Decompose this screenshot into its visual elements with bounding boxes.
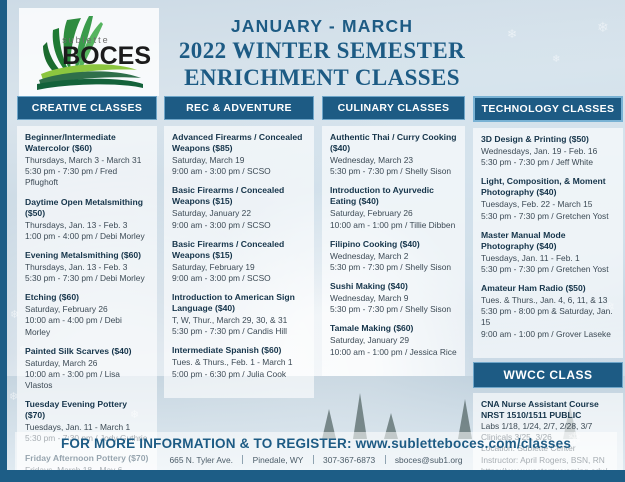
- class-time-instructor: 5:30 pm - 7:30 pm / Candis Hill: [172, 326, 306, 337]
- footer-contact-line: 665 N. Tyler Ave. Pinedale, WY 307-367-6…: [7, 455, 625, 465]
- class-dates: Saturday, January 22: [172, 208, 306, 219]
- class-panel-culinary: Authentic Thai / Curry Cooking ($40) Wed…: [322, 126, 465, 376]
- poster-header: sublette BOCES JANUARY - MARCH 2022 WINT…: [7, 0, 625, 96]
- class-dates: Saturday, February 26: [25, 304, 149, 315]
- class-time-instructor: 5:30 pm - 7:30 pm / Fred Pflughoft: [25, 166, 149, 188]
- class-time-instructor: 5:00 pm - 6:30 pm / Julia Cook: [172, 369, 306, 380]
- class-item[interactable]: Sushi Making ($40) Wednesday, March 9 5:…: [328, 281, 459, 315]
- class-time-instructor: 9:00 am - 1:00 pm / Grover Laseke: [481, 329, 615, 340]
- class-item[interactable]: Painted Silk Scarves ($40) Saturday, Mar…: [23, 346, 151, 392]
- category-header-culinary[interactable]: CULINARY CLASSES: [322, 96, 465, 120]
- category-header-rec-adventure[interactable]: REC & ADVENTURE: [164, 96, 314, 120]
- class-item[interactable]: Evening Metalsmithing ($60) Thursdays, J…: [23, 250, 151, 284]
- category-header-technology[interactable]: TECHNOLOGY CLASSES: [473, 96, 623, 122]
- class-dates: Tuesdays, Feb. 22 - March 15: [481, 199, 615, 210]
- class-panel-technology: 3D Design & Printing ($50) Wednesdays, J…: [473, 128, 623, 358]
- class-time-instructor: 9:00 am - 3:00 pm / SCSO: [172, 166, 306, 177]
- class-columns: CREATIVE CLASSES Beginner/Intermediate W…: [7, 96, 625, 434]
- class-name: Advanced Firearms / Concealed Weapons ($…: [172, 132, 306, 154]
- class-dates: Saturday, January 29: [330, 335, 457, 346]
- class-time-instructor: 5:30 pm - 7:30 pm / Gretchen Yost: [481, 211, 615, 222]
- class-time-instructor: 10:00 am - 4:00 pm / Debi Morley: [25, 315, 149, 337]
- title-line-3: ENRICHMENT CLASSES: [167, 64, 477, 91]
- class-name: Introduction to American Sign Language (…: [172, 292, 306, 314]
- class-item[interactable]: Filipino Cooking ($40) Wednesday, March …: [328, 239, 459, 273]
- class-dates: Saturday, March 26: [25, 358, 149, 369]
- class-name: Intermediate Spanish ($60): [172, 345, 306, 356]
- class-time-instructor: 10:00 am - 1:00 pm / Jessica Rice: [330, 347, 457, 358]
- class-name: Filipino Cooking ($40): [330, 239, 457, 250]
- title-date-range: JANUARY - MARCH: [167, 16, 477, 37]
- class-panel-rec-adventure: Advanced Firearms / Concealed Weapons ($…: [164, 126, 314, 398]
- class-time-instructor: 10:00 am - 3:00 pm / Lisa Vlastos: [25, 369, 149, 391]
- class-item[interactable]: Light, Composition, & Moment Photography…: [479, 176, 617, 221]
- footer-email[interactable]: sboces@sub1.org: [388, 455, 470, 465]
- class-name: Evening Metalsmithing ($60): [25, 250, 149, 261]
- class-name: Authentic Thai / Curry Cooking ($40): [330, 132, 457, 154]
- class-name: Tuesday Evening Pottery ($70): [25, 399, 149, 421]
- poster-footer: FOR MORE INFORMATION & TO REGISTER: www.…: [7, 432, 625, 482]
- class-time-instructor: 10:00 am - 1:00 pm / Tillie Dibben: [330, 220, 457, 231]
- column-creative-classes: CREATIVE CLASSES Beginner/Intermediate W…: [17, 96, 157, 482]
- class-name: Tamale Making ($60): [330, 323, 457, 334]
- column-technology-classes: TECHNOLOGY CLASSES 3D Design & Printing …: [473, 96, 623, 482]
- class-name: Daytime Open Metalsmithing ($50): [25, 197, 149, 219]
- class-item[interactable]: Introduction to American Sign Language (…: [170, 292, 308, 337]
- class-dates: Saturday, March 19: [172, 155, 306, 166]
- divider: [313, 455, 314, 464]
- logo-wordmark: BOCES: [62, 45, 151, 69]
- class-dates: Thursdays, Jan. 13 - Feb. 3: [25, 262, 149, 273]
- footer-register-line[interactable]: FOR MORE INFORMATION & TO REGISTER: www.…: [7, 436, 625, 451]
- class-time-extra: 5:30 pm - 8:00 pm & Saturday, Jan. 15: [481, 306, 615, 328]
- class-name: Basic Firearms / Concealed Weapons ($15): [172, 239, 306, 261]
- class-item[interactable]: Introduction to Ayurvedic Eating ($40) S…: [328, 185, 459, 230]
- class-item[interactable]: Authentic Thai / Curry Cooking ($40) Wed…: [328, 132, 459, 177]
- footer-color-band: [7, 470, 625, 482]
- class-time-instructor: 5:30 pm - 7:30 pm / Jeff White: [481, 157, 615, 168]
- class-dates: Thursdays, March 3 - March 31: [25, 155, 149, 166]
- class-code: NRST 1510/1511 PUBLIC: [481, 410, 615, 421]
- column-culinary-classes: CULINARY CLASSES Authentic Thai / Curry …: [322, 96, 465, 376]
- class-name: Etching ($60): [25, 292, 149, 303]
- divider: [242, 455, 243, 464]
- class-dates: Saturday, February 19: [172, 262, 306, 273]
- class-item[interactable]: Intermediate Spanish ($60) Tues. & Thurs…: [170, 345, 308, 379]
- class-dates: Tues. & Thurs., Feb. 1 - March 1: [172, 357, 306, 368]
- class-time-instructor: 5:30 pm - 7:30 pm / Debi Morley: [25, 273, 149, 284]
- class-time-instructor: 9:00 am - 3:00 pm / SCSO: [172, 273, 306, 284]
- class-dates: Thursdays, Jan. 13 - Feb. 3: [25, 220, 149, 231]
- title-line-2: 2022 WINTER SEMESTER: [167, 37, 477, 64]
- class-labs: Labs 1/18, 1/24, 2/7, 2/28, 3/7: [481, 421, 615, 432]
- poster-title: JANUARY - MARCH 2022 WINTER SEMESTER ENR…: [167, 16, 477, 91]
- class-time-instructor: 5:30 pm - 7:30 pm / Shelly Sison: [330, 262, 457, 273]
- class-dates: Wednesday, March 23: [330, 155, 457, 166]
- class-dates: Wednesday, March 2: [330, 251, 457, 262]
- footer-address: 665 N. Tyler Ave.: [163, 455, 240, 465]
- divider: [385, 455, 386, 464]
- class-dates: Saturday, February 26: [330, 208, 457, 219]
- class-time-instructor: 5:30 pm - 7:30 pm / Shelly Sison: [330, 166, 457, 177]
- class-item[interactable]: Daytime Open Metalsmithing ($50) Thursda…: [23, 197, 151, 242]
- class-panel-creative: Beginner/Intermediate Watercolor ($60) T…: [17, 126, 157, 482]
- logo-container: sublette BOCES: [19, 8, 159, 96]
- class-item[interactable]: Amateur Ham Radio ($50) Tues. & Thurs., …: [479, 283, 617, 340]
- class-name: CNA Nurse Assistant Course: [481, 399, 615, 410]
- class-name: Light, Composition, & Moment Photography…: [481, 176, 615, 198]
- class-time-instructor: 5:30 pm - 7:30 pm / Gretchen Yost: [481, 264, 615, 275]
- class-item[interactable]: Tamale Making ($60) Saturday, January 29…: [328, 323, 459, 357]
- class-dates: T, W, Thur., March 29, 30, & 31: [172, 315, 306, 326]
- class-dates: Tues. & Thurs., Jan. 4, 6, 11, & 13: [481, 295, 615, 306]
- class-dates: Wednesdays, Jan. 19 - Feb. 16: [481, 146, 615, 157]
- class-name: Beginner/Intermediate Watercolor ($60): [25, 132, 149, 154]
- class-name: Master Manual Mode Photography ($40): [481, 230, 615, 252]
- class-time-instructor: 9:00 am - 3:00 pm / SCSO: [172, 220, 306, 231]
- category-header-creative[interactable]: CREATIVE CLASSES: [17, 96, 157, 120]
- class-item[interactable]: Beginner/Intermediate Watercolor ($60) T…: [23, 132, 151, 189]
- class-name: Sushi Making ($40): [330, 281, 457, 292]
- category-header-wwcc[interactable]: WWCC CLASS: [473, 362, 623, 388]
- class-item[interactable]: Advanced Firearms / Concealed Weapons ($…: [170, 132, 308, 177]
- class-time-instructor: 5:30 pm - 7:30 pm / Shelly Sison: [330, 304, 457, 315]
- class-time-instructor: 1:00 pm - 4:00 pm / Debi Morley: [25, 231, 149, 242]
- class-item[interactable]: Basic Firearms / Concealed Weapons ($15)…: [170, 239, 308, 284]
- column-rec-adventure: REC & ADVENTURE Advanced Firearms / Conc…: [164, 96, 314, 398]
- class-name: 3D Design & Printing ($50): [481, 134, 615, 145]
- class-item[interactable]: Basic Firearms / Concealed Weapons ($15)…: [170, 185, 308, 230]
- class-item[interactable]: 3D Design & Printing ($50) Wednesdays, J…: [479, 134, 617, 168]
- class-item[interactable]: Etching ($60) Saturday, February 26 10:0…: [23, 292, 151, 338]
- poster-canvas: ❄ ❄ ❄ ❄ ❄ ❄ ❄ ❄ ❄ ❄: [0, 0, 625, 482]
- class-name: Painted Silk Scarves ($40): [25, 346, 149, 357]
- class-item[interactable]: Master Manual Mode Photography ($40) Tue…: [479, 230, 617, 275]
- footer-phone[interactable]: 307-367-6873: [316, 455, 382, 465]
- footer-city: Pinedale, WY: [246, 455, 311, 465]
- class-dates: Wednesday, March 9: [330, 293, 457, 304]
- class-dates: Tuesdays, Jan. 11 - Feb. 1: [481, 253, 615, 264]
- class-name: Basic Firearms / Concealed Weapons ($15): [172, 185, 306, 207]
- class-name: Amateur Ham Radio ($50): [481, 283, 615, 294]
- class-name: Introduction to Ayurvedic Eating ($40): [330, 185, 457, 207]
